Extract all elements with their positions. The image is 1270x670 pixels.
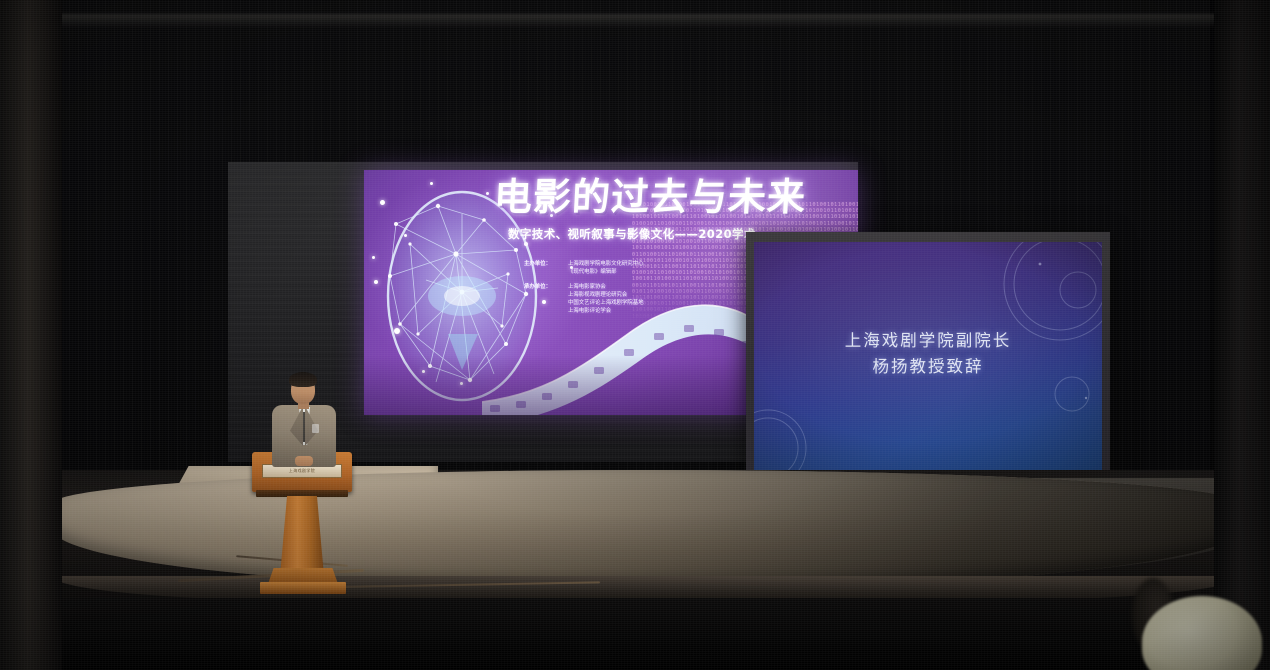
organizer-label-host: 主办单位： <box>524 260 568 276</box>
organizer-coorg-4: 上海电影评论学会 <box>568 307 643 315</box>
projection-screen-frame: 上海戏剧学院副院长 杨扬教授致辞 <box>746 232 1110 485</box>
projection-screen-assembly: 上海戏剧学院副院长 杨扬教授致辞 <box>746 232 1110 485</box>
podium-base-lower <box>260 582 346 594</box>
projection-screen-surface: 上海戏剧学院副院长 杨扬教授致辞 <box>754 242 1102 473</box>
organizer-host-2: 《现代电影》编辑部 <box>568 268 643 276</box>
presenter-at-podium <box>268 372 340 470</box>
speaker-glasses <box>292 385 314 390</box>
projection-line-1: 上海戏剧学院副院长 <box>754 328 1102 354</box>
speaker-name-badge <box>312 424 319 433</box>
orchestra-pit-dark <box>0 598 1270 670</box>
organizer-coorg-1: 上海电影家协会 <box>568 283 643 291</box>
stage-photo-scene: 0110100101101001011010010110100111010010… <box>0 0 1270 670</box>
speaker-hands <box>295 456 313 466</box>
organizer-values-coorg: 上海电影家协会 上海影视戏剧理论研究会 中国文艺评论上海戏剧学院基地 上海电影评… <box>568 283 643 315</box>
organizer-coorg-3: 中国文艺评论上海戏剧学院基地 <box>568 299 643 307</box>
conference-headline: 电影的过去与未来 <box>493 178 858 216</box>
podium-lip <box>256 490 348 497</box>
curtain-top-edge <box>60 14 1220 28</box>
podium-column <box>280 496 324 576</box>
projection-text-block: 上海戏剧学院副院长 杨扬教授致辞 <box>754 328 1102 379</box>
organizer-label-coorg: 承办单位： <box>524 283 568 315</box>
left-pillar <box>0 0 62 670</box>
organizer-values-host: 上海戏剧学院电影文化研究中心 《现代电影》编辑部 <box>568 260 643 276</box>
organizer-host-1: 上海戏剧学院电影文化研究中心 <box>568 260 643 268</box>
organizer-coorg-2: 上海影视戏剧理论研究会 <box>568 291 643 299</box>
right-pillar <box>1214 0 1270 670</box>
stage-apron-shading <box>52 470 1242 588</box>
projection-line-2: 杨扬教授致辞 <box>754 354 1102 380</box>
